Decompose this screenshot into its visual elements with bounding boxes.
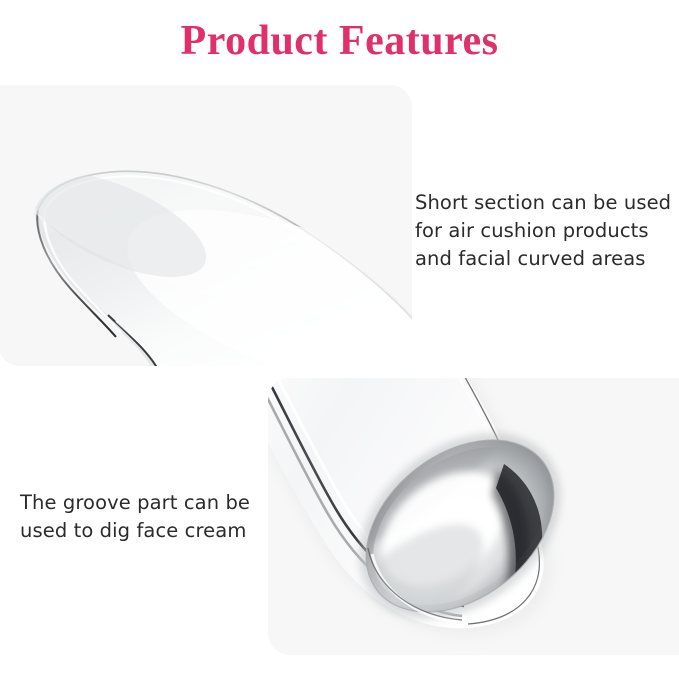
spoon-groove-illustration — [268, 378, 679, 655]
spoon-groove-image — [268, 378, 679, 655]
spatula-blade-illustration — [0, 85, 412, 366]
caption-groove-part: The groove part can be used to dig face … — [20, 489, 270, 545]
spatula-blade-image — [0, 85, 412, 366]
spatula-blade-panel — [0, 85, 412, 366]
caption-short-section: Short section can be used for air cushio… — [415, 189, 677, 273]
spoon-groove-panel — [268, 378, 679, 655]
page-title: Product Features — [0, 17, 679, 65]
